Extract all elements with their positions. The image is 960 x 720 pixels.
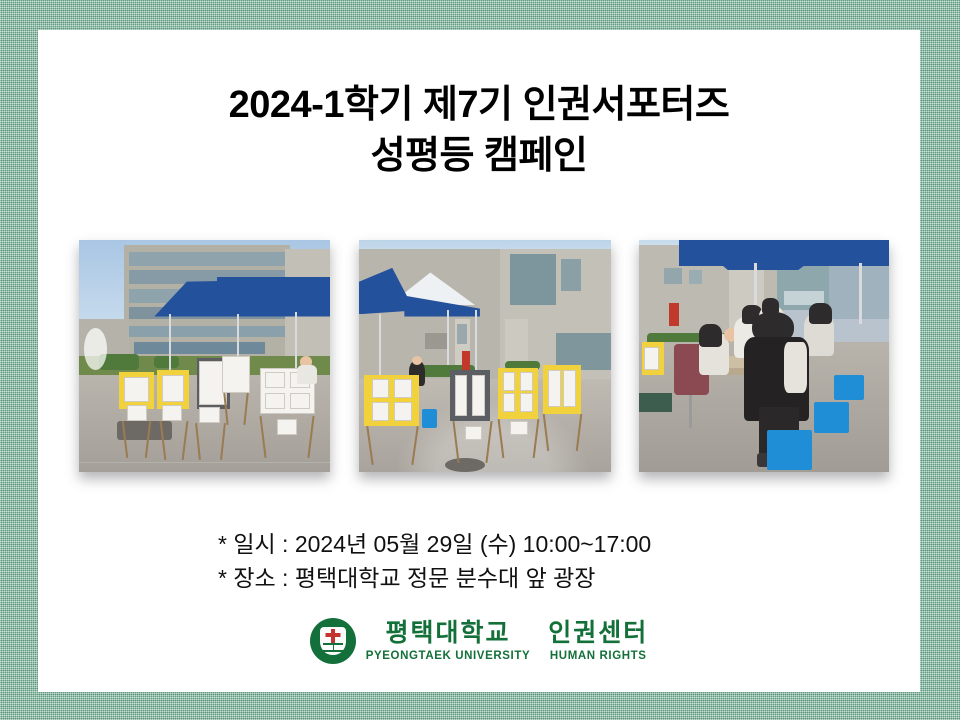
- center-name-block: 인권센터 HUMAN RIGHTS: [548, 620, 648, 662]
- center-name-kr: 인권센터: [548, 620, 648, 648]
- university-name-block: 평택대학교 PYEONGTAEK UNIVERSITY: [366, 620, 530, 662]
- photo-gallery: [38, 240, 920, 475]
- campaign-photo-1: [79, 240, 330, 472]
- logo-wordmark: 평택대학교 PYEONGTAEK UNIVERSITY 인권센터 HUMAN R…: [366, 620, 648, 662]
- photo-1-scene: [79, 240, 330, 472]
- center-name-en: HUMAN RIGHTS: [550, 650, 647, 662]
- university-seal-icon: [310, 618, 356, 664]
- slide-card: 2024-1학기 제7기 인권서포터즈 성평등 캠페인: [38, 30, 920, 692]
- university-name-kr: 평택대학교: [385, 620, 510, 648]
- campaign-photo-3: [639, 240, 889, 472]
- university-name-en: PYEONGTAEK UNIVERSITY: [366, 650, 530, 662]
- campaign-photo-2: [359, 240, 611, 472]
- event-details: * 일시 : 2024년 05월 29일 (수) 10:00~17:00 * 장…: [218, 528, 778, 595]
- organization-logo: 평택대학교 PYEONGTAEK UNIVERSITY 인권센터 HUMAN R…: [38, 618, 920, 664]
- cross-horizontal-icon: [325, 633, 340, 637]
- page-title: 2024-1학기 제7기 인권서포터즈 성평등 캠페인: [38, 80, 920, 181]
- photo-3-scene: [639, 240, 889, 472]
- photo-2-scene: [359, 240, 611, 472]
- open-book-icon: [323, 643, 343, 652]
